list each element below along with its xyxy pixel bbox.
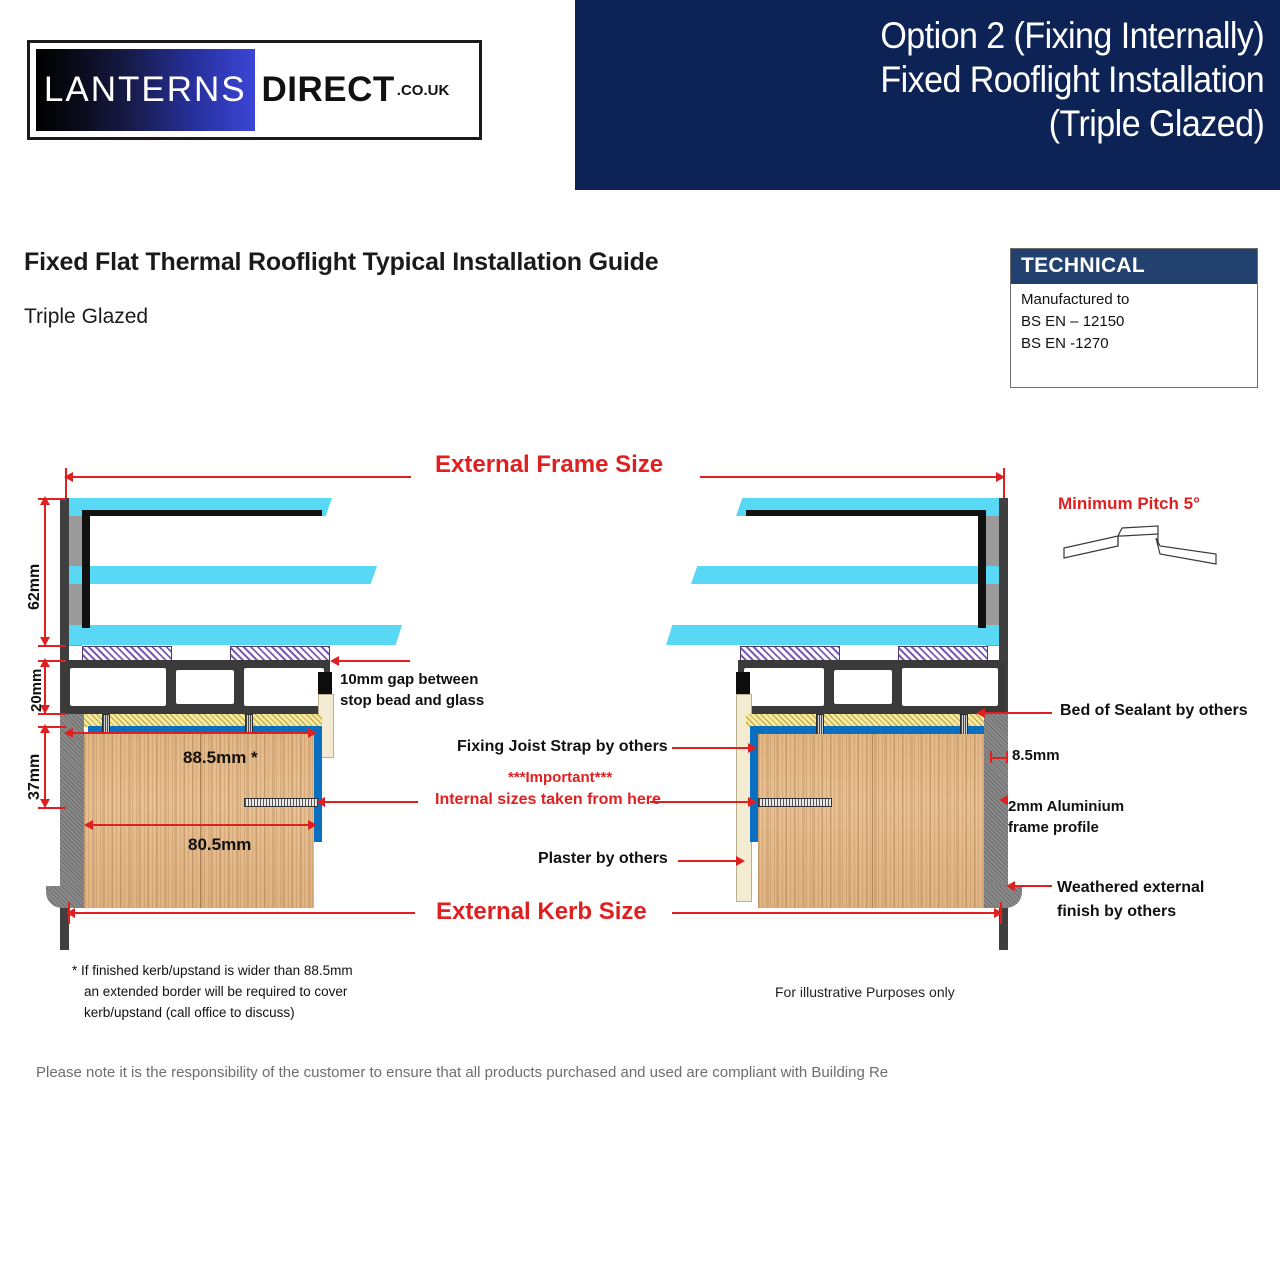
glass-pane-middle-right	[698, 566, 999, 584]
external-frame-dim-line-left	[66, 476, 411, 478]
glass-bevel-middle-right	[691, 566, 705, 584]
thermal-break-web-left-4	[234, 696, 244, 704]
technical-line-2: BS EN – 12150	[1011, 311, 1257, 333]
dim-label-20mm: 20mm	[28, 669, 45, 712]
callout-weathered-line2: finish by others	[1057, 900, 1204, 924]
dimension-label-external-kerb-size: External Kerb Size	[436, 898, 647, 926]
callout-10mm-gap-line2: stop bead and glass	[340, 690, 484, 711]
dim-62mm-tick-bottom	[38, 645, 66, 647]
thermal-break-web-right-4	[892, 696, 902, 704]
glass-pane-inner-right	[673, 625, 999, 645]
callout-arrow-10mm-gap	[330, 656, 339, 666]
callout-leader-weathered-finish	[1010, 885, 1052, 887]
callout-leader-plaster	[678, 860, 740, 862]
footnote-asterisk-line2: an extended border will be required to c…	[72, 981, 353, 1002]
thermal-break-web-right-2	[824, 696, 834, 704]
dim-20mm-tick-top	[38, 660, 66, 662]
dim-37mm-line	[44, 726, 46, 808]
minimum-pitch-icon	[1060, 524, 1220, 572]
dim-label-80-5mm: 80.5mm	[188, 835, 251, 855]
dim-label-62mm: 62mm	[26, 564, 44, 610]
technical-box-heading: TECHNICAL	[1011, 249, 1257, 284]
callout-important: ***Important***	[508, 769, 612, 786]
dim-80-5mm-line	[86, 824, 314, 826]
glass-edge-seal-right	[746, 510, 978, 516]
callout-tick-8-5mm	[990, 751, 992, 763]
pitch-label: Minimum Pitch 5°	[1058, 494, 1200, 514]
frame-chamber-left-3	[244, 668, 324, 706]
technical-box-body: Manufactured to BS EN – 12150 BS EN -127…	[1011, 284, 1257, 355]
header-title-line-2: Fixed Rooflight Installation	[880, 58, 1264, 102]
thermal-break-web-left-1	[166, 670, 176, 678]
fixing-joist-strap-left	[244, 798, 318, 807]
kerb-joint-line-right	[872, 734, 873, 908]
glass-spacer-bar-right-1	[978, 510, 986, 628]
technical-line-1: Manufactured to	[1011, 289, 1257, 311]
callout-arrow-internal-sizes	[748, 797, 757, 807]
glass-bevel-inner-left	[388, 625, 402, 645]
thermal-break-web-left-3	[234, 670, 244, 678]
callout-leader-10mm-gap	[334, 660, 410, 662]
frame-chamber-right-3	[902, 668, 998, 706]
dim-label-88-5mm: 88.5mm *	[183, 748, 258, 768]
thermal-break-web-left-2	[166, 696, 176, 704]
callout-arrow-weathered-finish	[1006, 881, 1015, 891]
thermal-break-web-right-3	[892, 670, 902, 678]
callout-10mm-gap: 10mm gap between stop bead and glass	[340, 669, 484, 711]
footer-disclaimer: Please note it is the responsibility of …	[36, 1064, 888, 1081]
installation-cross-section-diagram: External Frame Size	[0, 420, 1280, 980]
dim-80-5mm-arrow-right	[308, 820, 317, 830]
dim-37mm-tick-top	[38, 726, 66, 728]
glass-bevel-inner-right	[666, 625, 680, 645]
external-kerb-dim-line-left	[70, 912, 415, 914]
weathered-finish-right-return	[984, 886, 1022, 908]
dimension-label-external-frame-size: External Frame Size	[435, 451, 663, 479]
callout-leader-bed-of-sealant	[980, 712, 1052, 714]
header-title-line-1: Option 2 (Fixing Internally)	[880, 14, 1264, 58]
dim-62mm-tick-top	[38, 498, 66, 500]
stop-bead-right	[736, 672, 750, 694]
callout-leader-fixing-joist-strap	[672, 747, 752, 749]
footnote-asterisk-line1: * If finished kerb/upstand is wider than…	[72, 960, 353, 981]
weathered-external-finish-right	[984, 714, 1008, 906]
callout-arrow-plaster	[736, 856, 745, 866]
callout-tick2-8-5mm	[1006, 751, 1008, 763]
frame-chamber-right-2	[834, 670, 892, 704]
thermal-break-web-right-1	[824, 670, 834, 678]
logo-text-tld: .CO.UK	[397, 82, 450, 99]
frame-chamber-left-1	[70, 668, 166, 706]
callout-plaster-by-others: Plaster by others	[538, 850, 668, 868]
weathered-finish-left-return	[46, 886, 84, 908]
callout-bed-of-sealant: Bed of Sealant by others	[1060, 702, 1248, 720]
technical-box: TECHNICAL Manufactured to BS EN – 12150 …	[1010, 248, 1258, 388]
page-subtitle: Triple Glazed	[24, 305, 148, 329]
external-kerb-dim-line-right	[672, 912, 998, 914]
external-kerb-extension-left	[68, 902, 70, 924]
dim-80-5mm-arrow-left	[84, 820, 93, 830]
frame-chamber-left-2	[176, 670, 234, 704]
dim-88-5mm-line	[66, 732, 314, 734]
logo-gradient-panel: LANTERNS	[36, 49, 255, 131]
logo-text-direct: DIRECT	[262, 70, 395, 110]
dpc-membrane-right-top	[750, 726, 984, 734]
callout-arrow-internal-sizes-left	[316, 797, 325, 807]
header-banner: Option 2 (Fixing Internally) Fixed Roofl…	[575, 0, 1280, 190]
callout-10mm-gap-line1: 10mm gap between	[340, 669, 484, 690]
callout-fixing-joist-strap: Fixing Joist Strap by others	[457, 738, 668, 756]
company-logo: LANTERNS DIRECT .CO.UK	[27, 40, 482, 140]
glass-pane-middle-left	[69, 566, 369, 584]
footnote-illustrative: For illustrative Purposes only	[775, 984, 955, 1000]
callout-8-5mm: 8.5mm	[1012, 747, 1060, 764]
technical-line-3: BS EN -1270	[1011, 333, 1257, 355]
callout-weathered-line1: Weathered external	[1057, 876, 1204, 900]
callout-arrow-aluminium-profile	[999, 795, 1008, 805]
weathered-external-finish-left	[60, 714, 84, 906]
page-title: Fixed Flat Thermal Rooflight Typical Ins…	[24, 248, 658, 277]
glass-spacer-bar-left-1	[82, 510, 90, 628]
glass-bevel-middle-left	[363, 566, 377, 584]
external-kerb-extension-right	[1000, 902, 1002, 924]
external-frame-dim-line-right	[700, 476, 1002, 478]
timber-kerb-right	[758, 734, 984, 908]
callout-leader-internal-sizes-left	[320, 801, 418, 803]
external-frame-extension-left	[65, 468, 67, 498]
logo-text-lanterns: LANTERNS	[44, 70, 247, 110]
dim-label-37mm: 37mm	[26, 754, 44, 800]
glass-pane-inner-left	[69, 625, 394, 645]
dim-37mm-tick-bottom	[38, 807, 66, 809]
logo-right-panel: DIRECT .CO.UK	[255, 49, 474, 131]
fixing-joist-strap-right	[758, 798, 832, 807]
stop-bead-left	[318, 672, 332, 694]
footnote-asterisk: * If finished kerb/upstand is wider than…	[72, 960, 353, 1023]
header-title-line-3: (Triple Glazed)	[1048, 102, 1264, 146]
dim-62mm-line	[44, 498, 46, 646]
dim-88-5mm-arrow-right	[308, 728, 317, 738]
callout-weathered-finish: Weathered external finish by others	[1057, 876, 1204, 924]
frame-chamber-right-1	[744, 668, 824, 706]
callout-internal-sizes: Internal sizes taken from here	[435, 791, 661, 809]
callout-aluminium-line1: 2mm Aluminium	[1008, 796, 1124, 817]
footnote-asterisk-line3: kerb/upstand (call office to discuss)	[72, 1002, 353, 1023]
callout-aluminium-profile: 2mm Aluminium frame profile	[1008, 796, 1124, 838]
glass-edge-seal-left	[90, 510, 322, 516]
callout-leader-internal-sizes	[650, 801, 752, 803]
external-frame-extension-right	[1003, 468, 1005, 498]
callout-arrow-fixing-joist-strap	[748, 743, 757, 753]
dim-20mm-tick-bottom	[38, 713, 66, 715]
callout-aluminium-line2: frame profile	[1008, 817, 1124, 838]
dim-88-5mm-arrow-left	[64, 728, 73, 738]
callout-arrow-bed-of-sealant	[976, 708, 985, 718]
